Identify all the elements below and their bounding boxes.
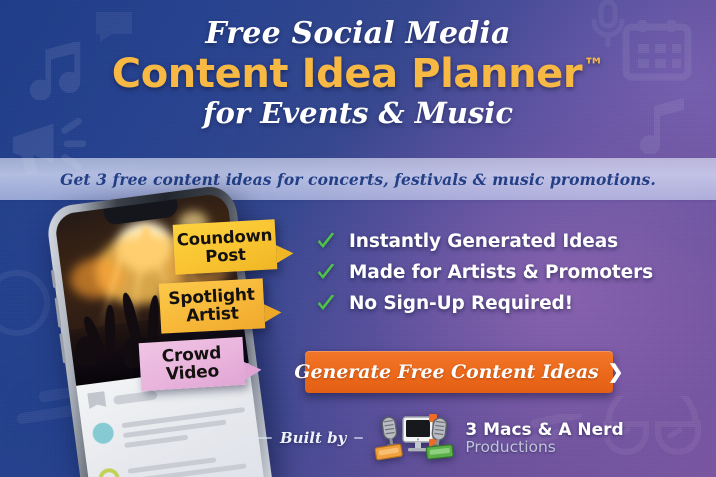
generate-free-content-ideas-button[interactable]: Generate Free Content Ideas ❯ bbox=[305, 351, 613, 393]
headline-main: Content Idea Planner™ bbox=[0, 52, 716, 97]
list-item bbox=[91, 404, 248, 457]
checkmark-icon bbox=[316, 231, 336, 252]
feature-list: Instantly Generated Ideas Made for Artis… bbox=[316, 226, 653, 319]
brand-line-1: 3 Macs & A Nerd bbox=[465, 421, 623, 439]
headline-eyebrow: Free Social Media bbox=[0, 18, 716, 50]
phone-volume-down-button bbox=[59, 333, 66, 363]
bookmark-icon bbox=[87, 391, 106, 413]
trademark-symbol: ™ bbox=[583, 54, 604, 78]
feature-item: Instantly Generated Ideas bbox=[316, 226, 653, 257]
phone-mute-button bbox=[51, 270, 56, 288]
sticky-note-fold bbox=[276, 244, 294, 263]
phone-volume-up-button bbox=[55, 297, 62, 327]
3-macs-a-nerd-logo-icon bbox=[371, 412, 457, 464]
feature-item: Made for Artists & Promoters bbox=[316, 257, 653, 288]
cta-label: Generate Free Content Ideas bbox=[294, 361, 598, 383]
avatar bbox=[91, 421, 115, 445]
feed-title-placeholder bbox=[113, 390, 158, 405]
headline-block: Free Social Media Content Idea Planner™ … bbox=[0, 18, 716, 130]
list-item-lines bbox=[127, 450, 253, 477]
sticky-note-fold bbox=[244, 361, 262, 380]
list-item-lines bbox=[121, 404, 248, 453]
footer-credit: Built by bbox=[246, 412, 624, 464]
divider bbox=[246, 437, 272, 439]
promo-banner: Free Social Media Content Idea Planner™ … bbox=[0, 0, 716, 477]
feature-label: No Sign-Up Required! bbox=[349, 293, 573, 314]
sticky-note-spotlight: Spotlight Artist bbox=[159, 278, 265, 333]
subheadline-band: Get 3 free content ideas for concerts, f… bbox=[0, 158, 716, 200]
checkmark-icon bbox=[316, 293, 336, 314]
feature-label: Instantly Generated Ideas bbox=[349, 231, 618, 252]
subheadline-text: Get 3 free content ideas for concerts, f… bbox=[60, 170, 656, 189]
sticky-note-crowd: Crowd Video bbox=[139, 337, 246, 391]
sticky-note-fold bbox=[264, 303, 282, 322]
headline-main-text: Content Idea Planner bbox=[112, 51, 582, 97]
feature-item: No Sign-Up Required! bbox=[316, 288, 653, 319]
brand-line-2: Productions bbox=[465, 439, 623, 455]
headline-subtitle: for Events & Music bbox=[0, 98, 716, 130]
built-by-label: Built by bbox=[280, 429, 346, 447]
sticky-note-countdown: Coundown Post bbox=[173, 219, 278, 275]
divider bbox=[354, 437, 363, 439]
checkmark-icon bbox=[316, 262, 336, 283]
list-item bbox=[97, 450, 253, 477]
brand-name: 3 Macs & A Nerd Productions bbox=[465, 421, 623, 455]
chevron-right-icon: ❯ bbox=[608, 363, 624, 382]
feature-label: Made for Artists & Promoters bbox=[349, 262, 653, 283]
circle-decor-icon bbox=[0, 268, 52, 338]
avatar bbox=[97, 467, 121, 477]
